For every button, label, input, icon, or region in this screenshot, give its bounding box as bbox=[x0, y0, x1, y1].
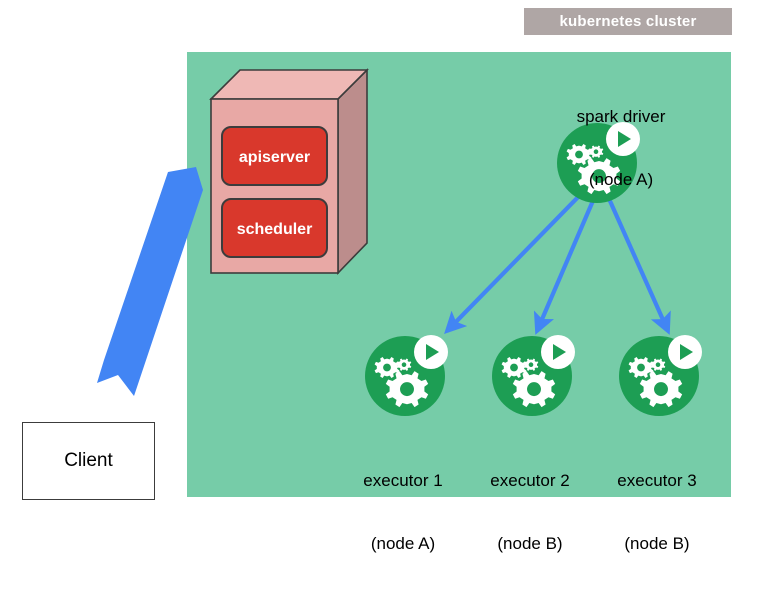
client-label: Client bbox=[64, 450, 113, 472]
executor-2-label: executor 2 (node B) bbox=[470, 428, 590, 596]
apiserver-box[interactable]: apiserver bbox=[222, 127, 327, 185]
executor-2-node[interactable] bbox=[492, 335, 575, 416]
executor-3-node-name: (node B) bbox=[597, 533, 717, 554]
executor-3-node[interactable] bbox=[619, 335, 702, 416]
client-box[interactable]: Client bbox=[22, 422, 155, 500]
executor-1-label: executor 1 (node A) bbox=[343, 428, 463, 596]
executor-2-title: executor 2 bbox=[470, 470, 590, 491]
executor-1-node-name: (node A) bbox=[343, 533, 463, 554]
spark-driver-title: spark driver bbox=[521, 106, 721, 127]
executor-3-title: executor 3 bbox=[597, 470, 717, 491]
executor-1-node[interactable] bbox=[365, 335, 448, 416]
scheduler-label: scheduler bbox=[237, 221, 313, 238]
executor-2-node-name: (node B) bbox=[470, 533, 590, 554]
spark-driver-label: spark driver (node A) bbox=[521, 64, 721, 232]
apiserver-label: apiserver bbox=[239, 149, 310, 166]
scheduler-box[interactable]: scheduler bbox=[222, 199, 327, 257]
diagram-canvas: kubernetes cluster bbox=[0, 0, 761, 516]
spark-driver-node-name: (node A) bbox=[521, 169, 721, 190]
executor-3-label: executor 3 (node B) bbox=[597, 428, 717, 596]
executor-1-title: executor 1 bbox=[343, 470, 463, 491]
